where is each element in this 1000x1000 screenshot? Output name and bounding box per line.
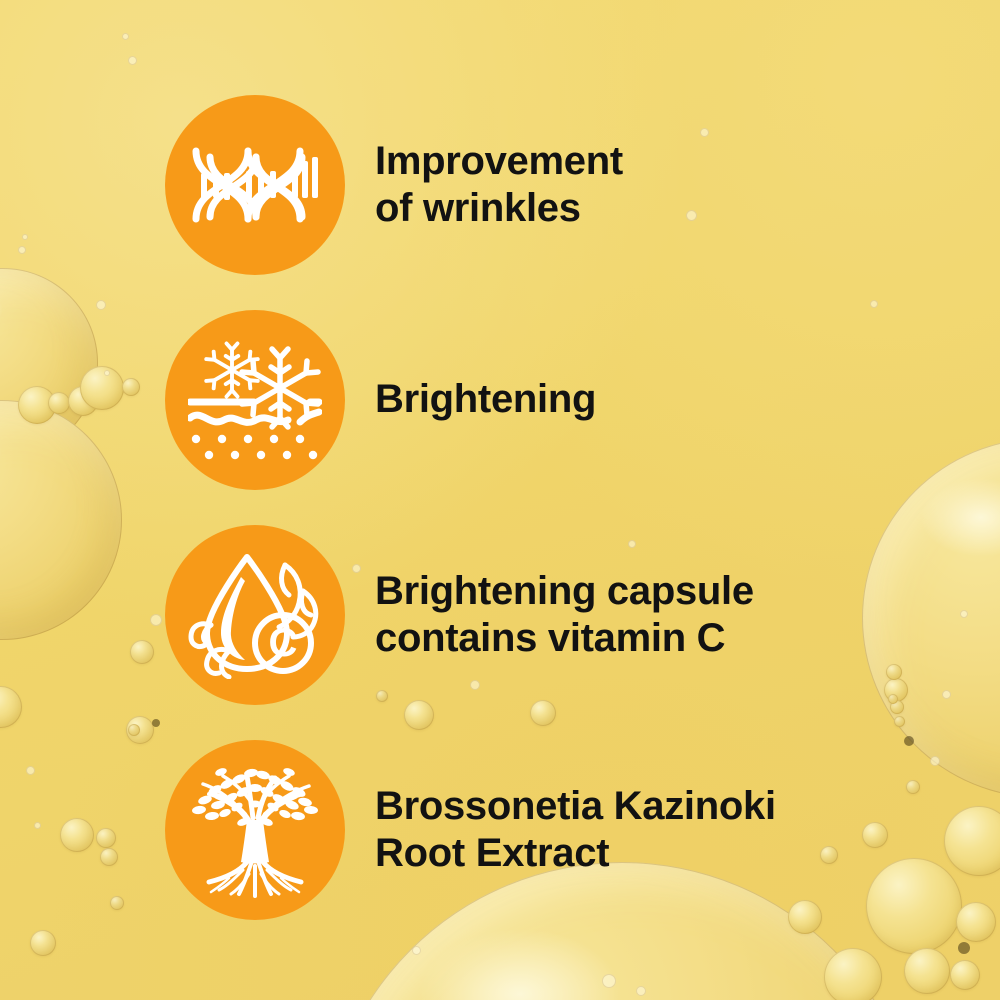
benefit-row-brightening[interactable]: Brightening	[165, 310, 985, 490]
benefit-list: Improvement of wrinkles	[0, 0, 1000, 1000]
benefit-row-vitamin-c[interactable]: C Brightening capsule contains vitamin C	[165, 525, 985, 705]
benefit-label: Improvement of wrinkles	[375, 138, 623, 232]
benefit-row-root-extract[interactable]: Brossonetia Kazinoki Root Extract	[165, 740, 985, 920]
benefit-label: Brightening capsule contains vitamin C	[375, 568, 754, 662]
benefit-icon-badge	[165, 95, 345, 275]
benefit-row-wrinkles[interactable]: Improvement of wrinkles	[165, 95, 985, 275]
tree-roots	[209, 862, 301, 896]
benefit-icon-badge	[165, 310, 345, 490]
benefits-infographic: Improvement of wrinkles	[0, 0, 1000, 1000]
dna-helix-icon	[190, 139, 320, 231]
tree-trunk	[241, 820, 269, 864]
vitamin-c-letter: C	[269, 621, 298, 665]
benefit-label: Brightening	[375, 376, 596, 423]
benefit-label: Brossonetia Kazinoki Root Extract	[375, 783, 776, 877]
tree-roots-icon	[185, 762, 325, 898]
snowflake-skin-icon	[188, 340, 322, 460]
benefit-icon-badge: C	[165, 525, 345, 705]
droplet-vitamin-c-icon: C	[185, 551, 325, 679]
skin-dots	[192, 435, 317, 459]
benefit-icon-badge	[165, 740, 345, 920]
